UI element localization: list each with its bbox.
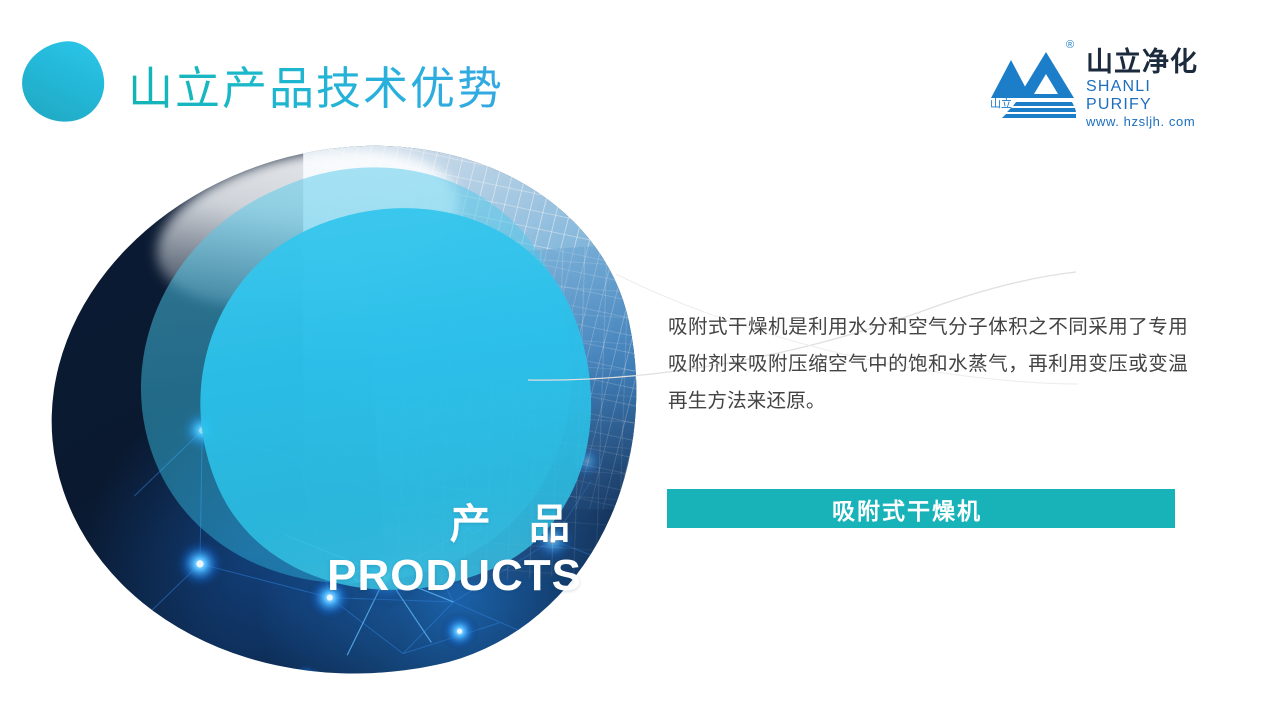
hero-label-block: 产 品 PRODUCTS <box>52 498 582 602</box>
hero-label-en: PRODUCTS <box>52 550 582 602</box>
blob-shape-icon <box>17 37 109 128</box>
page-title: 山立产品技术优势 <box>128 60 504 118</box>
brand-logo: ® 山立 山立净化 SHANLI PURIFY www. hzsljh. com <box>990 40 1218 122</box>
logo-mark-label: 山立 <box>990 98 1012 110</box>
slide-canvas: 山立产品技术优势 ® 山立 山立净化 SHANLI PURIFY www. hz… <box>0 0 1280 720</box>
company-name-cn: 山立净化 <box>1086 48 1218 78</box>
hero-label-cn: 产 品 <box>52 498 582 550</box>
company-name-en: SHANLI PURIFY <box>1086 78 1218 114</box>
logo-text-block: 山立净化 SHANLI PURIFY www. hzsljh. com <box>1086 48 1218 130</box>
company-website: www. hzsljh. com <box>1086 114 1218 130</box>
products-hero-graphic: 产 品 PRODUCTS <box>52 150 642 678</box>
product-name-banner: 吸附式干燥机 <box>667 489 1175 528</box>
product-description: 吸附式干燥机是利用水分和空气分子体积之不同采用了专用吸附剂来吸附压缩空气中的饱和… <box>668 308 1188 419</box>
hero-blob-base <box>4 94 691 720</box>
product-name-label: 吸附式干燥机 <box>832 492 982 526</box>
registered-trademark-icon: ® <box>1066 40 1074 51</box>
